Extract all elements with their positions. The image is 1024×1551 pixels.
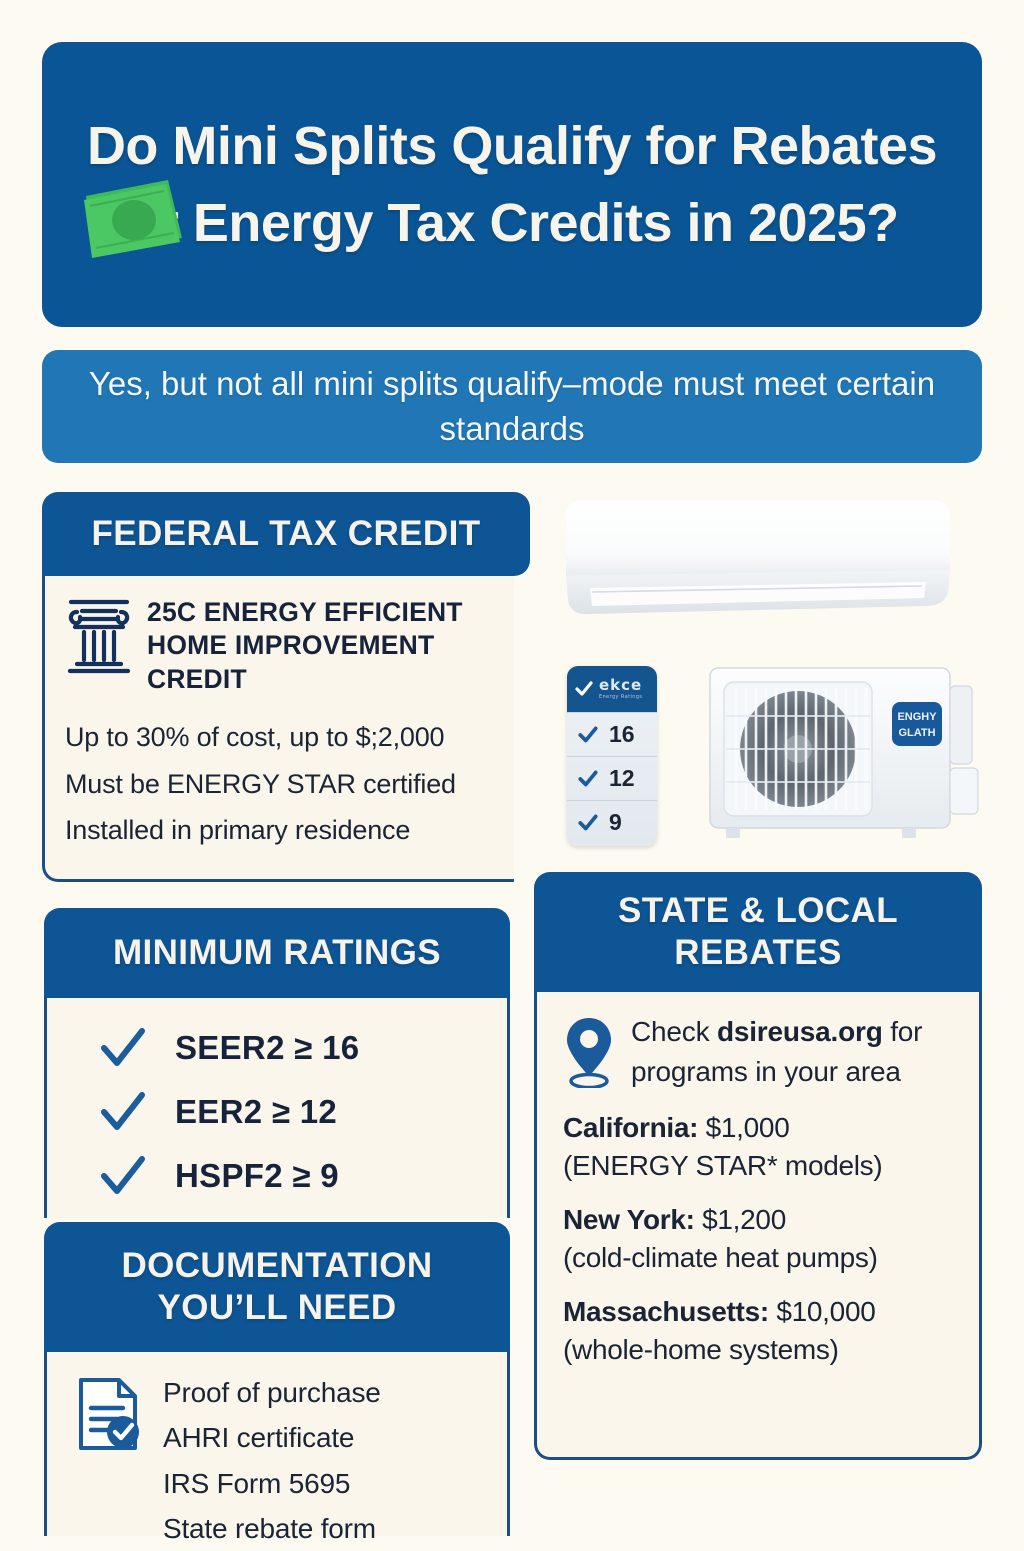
rebate-note: (ENERGY STAR* models) (563, 1147, 961, 1185)
check-icon (99, 1089, 147, 1135)
rebate-entry: Massachusetts: $10,000 (whole-home syste… (563, 1293, 961, 1369)
federal-card-body: 25C ENERGY EFFICIENT HOME IMPROVEMENT CR… (42, 576, 514, 882)
remote-card-row: 16 (567, 712, 657, 756)
rating-item: EER2 ≥ 12 (99, 1080, 507, 1144)
remote-card-value: 12 (609, 765, 635, 792)
mini-split-outdoor-unit-image: ENGHY GLATH (706, 656, 981, 848)
rating-label: HSPF2 ≥ 9 (175, 1157, 339, 1195)
remote-card-value: 16 (609, 721, 635, 748)
check-icon (574, 679, 594, 699)
product-photo-area: ekce Energy Ratings 16 12 9 (548, 488, 996, 870)
documentation-item: Proof of purchase (163, 1370, 381, 1415)
ratings-card-header: MINIMUM RATINGS (44, 908, 510, 998)
remote-card-header: ekce Energy Ratings (567, 666, 657, 712)
federal-credit-heading: 25C ENERGY EFFICIENT HOME IMPROVEMENT CR… (147, 594, 500, 696)
documentation-item: AHRI certificate (163, 1415, 381, 1460)
check-icon (99, 1153, 147, 1199)
rebate-entry: California: $1,000 (ENERGY STAR* models) (563, 1109, 961, 1185)
remote-card-logo: ekce Energy Ratings (599, 678, 642, 700)
rating-item: SEER2 ≥ 16 (99, 1016, 507, 1080)
rebate-amount-line: Massachusetts: $10,000 (563, 1293, 961, 1331)
dsire-check-row: Check dsireusa.org for programs in your … (563, 1012, 961, 1093)
check-prefix: Check (631, 1016, 717, 1047)
document-with-check-icon (73, 1370, 145, 1536)
rating-label: SEER2 ≥ 16 (175, 1029, 359, 1067)
rebate-note: (cold-climate heat pumps) (563, 1239, 961, 1277)
remote-card-row: 12 (567, 756, 657, 800)
state-rebates-header-line2: REBATES (674, 932, 841, 974)
svg-text:ENGHY: ENGHY (897, 711, 937, 723)
subtitle-text: Yes, but not all mini splits qualify–mod… (42, 362, 982, 450)
check-icon (99, 1025, 147, 1071)
minimum-ratings-card: MINIMUM RATINGS SEER2 ≥ 16 EER2 ≥ 12 HSP… (44, 908, 510, 1218)
remote-card-value: 9 (609, 809, 622, 836)
documentation-item: State rebate form (163, 1506, 381, 1551)
documentation-card-header: DOCUMENTATION YOU’LL NEED (44, 1222, 510, 1352)
rating-item: HSPF2 ≥ 9 (99, 1144, 507, 1208)
rebate-amount: $1,200 (695, 1204, 786, 1235)
state-local-rebates-card: STATE & LOCAL REBATES Check dsireusa.org… (534, 872, 982, 1460)
rebate-state-name: Massachusetts: (563, 1296, 769, 1327)
check-icon (577, 768, 599, 790)
documentation-list: Proof of purchase AHRI certificate IRS F… (163, 1370, 381, 1536)
rebate-amount-line: New York: $1,200 (563, 1201, 961, 1239)
rebate-note: (whole-home systems) (563, 1331, 961, 1369)
documentation-item: IRS Form 5695 (163, 1461, 381, 1506)
check-icon (577, 724, 599, 746)
classical-column-icon (65, 594, 133, 679)
svg-text:GLATH: GLATH (898, 727, 935, 739)
rebate-state-name: New York: (563, 1204, 695, 1235)
documentation-card-body: Proof of purchase AHRI certificate IRS F… (44, 1352, 510, 1536)
dsire-check-text: Check dsireusa.org for programs in your … (631, 1012, 961, 1092)
documentation-header-line2: YOU’LL NEED (157, 1287, 396, 1329)
subtitle-banner: Yes, but not all mini splits qualify–mod… (42, 350, 982, 463)
state-rebates-header: STATE & LOCAL REBATES (534, 872, 982, 992)
money-banknote-emoji (80, 172, 188, 258)
federal-credit-detail: Must be ENERGY STAR certified (65, 761, 500, 807)
remote-card-row: 9 (567, 800, 657, 844)
documentation-header-line1: DOCUMENTATION (121, 1245, 432, 1287)
mini-split-indoor-unit-image (562, 496, 954, 622)
documentation-card: DOCUMENTATION YOU’LL NEED Proof of purch… (44, 1222, 510, 1536)
federal-tax-credit-card: FEDERAL TAX CREDIT (42, 492, 514, 882)
federal-credit-detail: Up to 30% of cost, up to $;2,000 (65, 714, 500, 760)
state-rebates-header-line1: STATE & LOCAL (618, 890, 898, 932)
ratings-card-body: SEER2 ≥ 16 EER2 ≥ 12 HSPF2 ≥ 9 (44, 998, 510, 1218)
energy-rating-remote-card: ekce Energy Ratings 16 12 9 (567, 666, 657, 846)
rebate-state-name: California: (563, 1112, 698, 1143)
state-rebates-body: Check dsireusa.org for programs in your … (534, 992, 982, 1460)
rebate-amount: $1,000 (698, 1112, 789, 1143)
federal-credit-detail-list: Up to 30% of cost, up to $;2,000 Must be… (65, 714, 500, 853)
federal-card-header: FEDERAL TAX CREDIT (42, 492, 530, 576)
map-pin-icon (563, 1012, 615, 1093)
rebate-amount: $10,000 (769, 1296, 876, 1327)
rebate-entry: New York: $1,200 (cold-climate heat pump… (563, 1201, 961, 1277)
federal-card-header-text: FEDERAL TAX CREDIT (92, 513, 481, 555)
federal-credit-detail: Installed in primary residence (65, 807, 500, 853)
ratings-card-header-text: MINIMUM RATINGS (113, 932, 441, 974)
dsire-link[interactable]: dsireusa.org (717, 1016, 883, 1047)
check-icon (577, 812, 599, 834)
rebate-amount-line: California: $1,000 (563, 1109, 961, 1147)
rating-label: EER2 ≥ 12 (175, 1093, 337, 1131)
